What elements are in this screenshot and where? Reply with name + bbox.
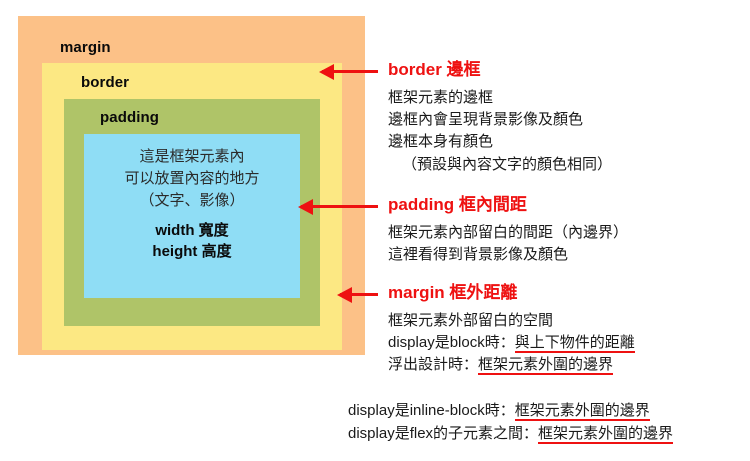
- note-line: display是flex的子元素之間：框架元素外圍的邊界: [348, 423, 673, 446]
- note-line: 框架元素外部留白的空間: [388, 310, 635, 332]
- note-border-title: border 邊框: [388, 60, 612, 80]
- box-model-diagram: margin border padding 這是框架元素內 可以放置內容的地方 …: [18, 16, 365, 355]
- note-line-text: display是inline-block時：: [348, 402, 515, 419]
- border-layer: border padding 這是框架元素內 可以放置內容的地方 （文字、影像）…: [42, 63, 342, 350]
- arrow-left-icon-border: [322, 70, 378, 73]
- note-margin-title: margin 框外距離: [388, 283, 635, 303]
- content-text-line: 可以放置內容的地方: [124, 168, 259, 190]
- note-line: 這裡看得到背景影像及顏色: [388, 244, 628, 266]
- note-padding-title: padding 框內間距: [388, 195, 628, 215]
- note-line: display是inline-block時：框架元素外圍的邊界: [348, 400, 673, 423]
- padding-layer-label: padding: [100, 110, 300, 125]
- content-text-line: 這是框架元素內: [139, 146, 244, 168]
- note-line: 邊框本身有顏色: [388, 131, 612, 153]
- note-line: （預設與內容文字的顏色相同）: [388, 154, 612, 176]
- note-margin-body: 框架元素外部留白的空間 display是block時：與上下物件的距離 浮出設計…: [388, 310, 635, 376]
- note-line: display是block時：與上下物件的距離: [388, 332, 635, 354]
- border-layer-label: border: [81, 75, 320, 90]
- note-line-text: display是flex的子元素之間：: [348, 425, 538, 442]
- note-line: 框架元素的邊框: [388, 87, 612, 109]
- arrow-left-icon-margin: [340, 293, 378, 296]
- note-line-underlined: 框架元素外圍的邊界: [478, 356, 613, 375]
- note-line-underlined: 框架元素外圍的邊界: [538, 425, 673, 444]
- note-line: 邊框內會呈現背景影像及顏色: [388, 109, 612, 131]
- note-padding: padding 框內間距 框架元素內部留白的間距（內邊界） 這裡看得到背景影像及…: [388, 195, 628, 266]
- note-line-text: 框架元素外部留白的空間: [388, 312, 553, 329]
- content-layer: 這是框架元素內 可以放置內容的地方 （文字、影像） width 寬度 heigh…: [84, 134, 300, 298]
- note-line-underlined: 與上下物件的距離: [515, 334, 635, 353]
- note-padding-body: 框架元素內部留白的間距（內邊界） 這裡看得到背景影像及顏色: [388, 222, 628, 266]
- arrow-left-icon-padding: [301, 205, 378, 208]
- note-border-body: 框架元素的邊框 邊框內會呈現背景影像及顏色 邊框本身有顏色 （預設與內容文字的顏…: [388, 87, 612, 175]
- note-line-text: 浮出設計時：: [388, 356, 478, 373]
- content-width-label: width 寬度: [155, 220, 228, 241]
- content-text-line: （文字、影像）: [139, 190, 244, 212]
- note-border: border 邊框 框架元素的邊框 邊框內會呈現背景影像及顏色 邊框本身有顏色 …: [388, 60, 612, 176]
- note-extra: display是inline-block時：框架元素外圍的邊界 display是…: [348, 400, 673, 445]
- note-margin: margin 框外距離 框架元素外部留白的空間 display是block時：與…: [388, 283, 635, 377]
- note-line: 浮出設計時：框架元素外圍的邊界: [388, 354, 635, 376]
- note-line-text: display是block時：: [388, 334, 515, 351]
- note-line-underlined: 框架元素外圍的邊界: [515, 402, 650, 421]
- content-height-label: height 高度: [152, 241, 231, 262]
- padding-layer: padding 這是框架元素內 可以放置內容的地方 （文字、影像） width …: [64, 99, 320, 326]
- note-line: 框架元素內部留白的間距（內邊界）: [388, 222, 628, 244]
- margin-layer-label: margin: [60, 40, 342, 55]
